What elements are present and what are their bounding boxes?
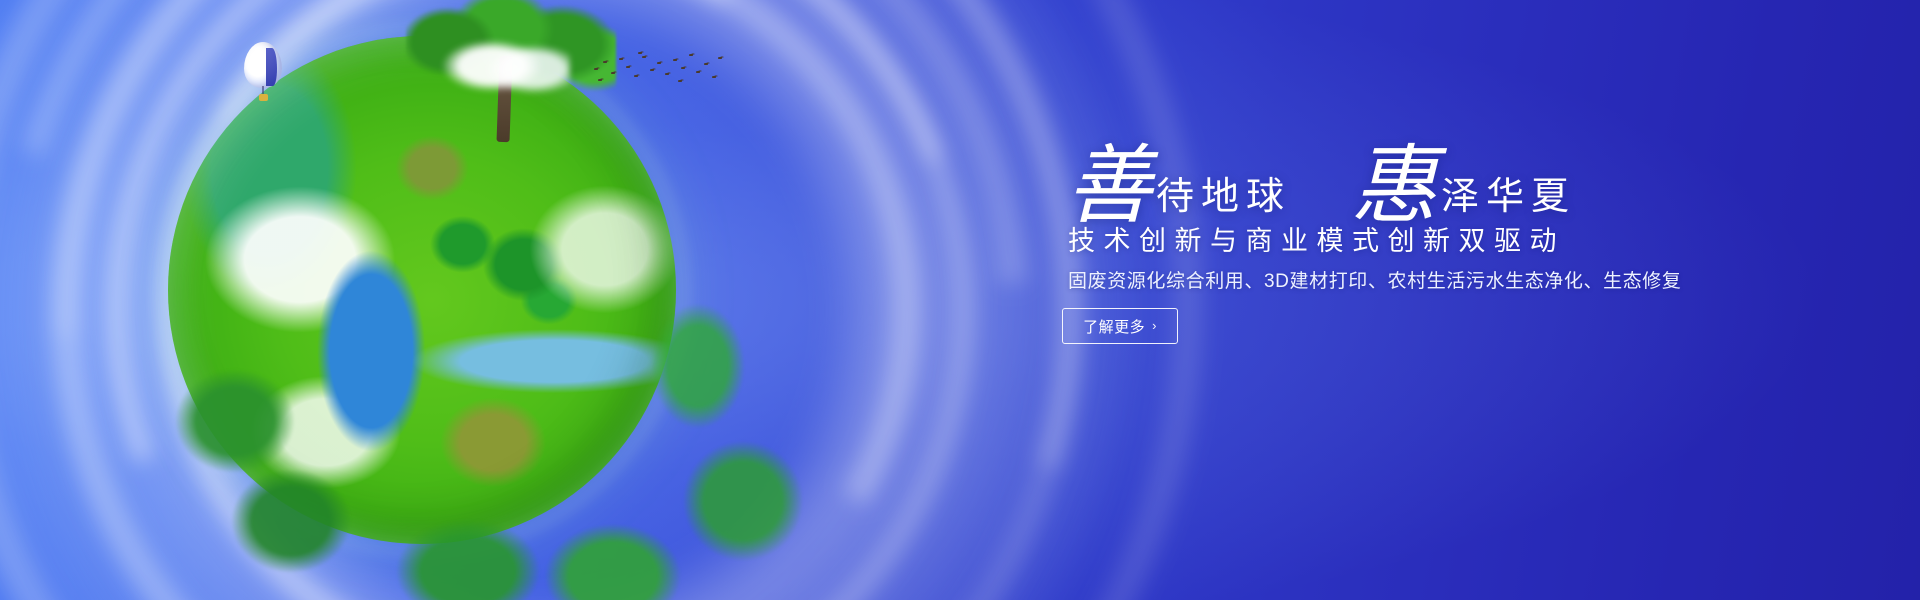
hero-copy: 善待地球惠泽华夏 技术创新与商业模式创新双驱动 固废资源化综合利用、3D建材打印…	[1060, 0, 1820, 600]
headline-text-1: 待地球	[1156, 176, 1291, 218]
cloud-icon	[440, 38, 570, 94]
learn-more-label: 了解更多	[1083, 316, 1145, 337]
balloon-stripe	[266, 48, 277, 86]
tree-icon	[668, 426, 818, 576]
chevron-right-icon: ›	[1152, 318, 1157, 333]
tree-icon	[638, 286, 758, 446]
bird-flock-icon	[592, 50, 722, 86]
learn-more-button[interactable]: 了解更多 ›	[1062, 308, 1178, 344]
headline-char-1: 善	[1066, 138, 1152, 234]
subtitle: 技术创新与商业模式创新双驱动	[1068, 228, 1565, 255]
headline-text-2: 泽华夏	[1441, 176, 1576, 218]
tree-icon	[216, 456, 366, 586]
hero-banner: 善待地球惠泽华夏 技术创新与商业模式创新双驱动 固废资源化综合利用、3D建材打印…	[0, 0, 1920, 600]
hot-air-balloon-icon	[244, 42, 282, 106]
tree-icon	[406, 0, 616, 136]
balloon-basket	[259, 94, 268, 101]
globe-illustration	[168, 36, 676, 544]
page-title: 善待地球惠泽华夏	[1066, 143, 1576, 229]
headline-char-2: 惠	[1351, 138, 1437, 234]
tagline: 固废资源化综合利用、3D建材打印、农村生活污水生态净化、生态修复	[1068, 272, 1682, 291]
